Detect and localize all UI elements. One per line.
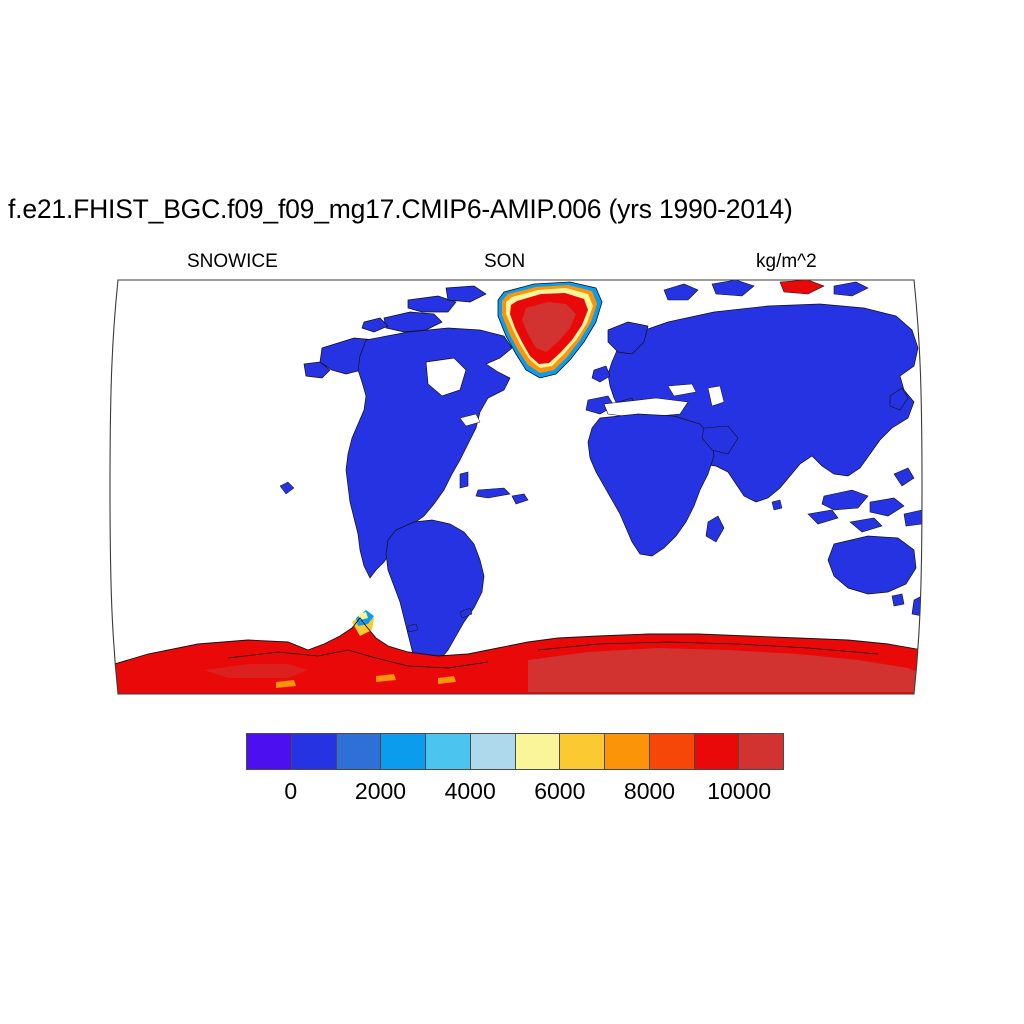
units-label: kg/m^2 (756, 251, 817, 273)
colorbar-tick-0: 0 (284, 777, 297, 805)
colorbar-cell-3 (381, 734, 426, 769)
variable-label: SNOWICE (187, 251, 278, 273)
colorbar-cell-5 (471, 734, 516, 769)
colorbar (246, 733, 784, 770)
colorbar-cell-8 (605, 734, 650, 769)
colorbar-tick-6000: 6000 (534, 777, 585, 805)
season-label: SON (484, 251, 525, 273)
colorbar-cell-1 (292, 734, 337, 769)
colorbar-cell-4 (426, 734, 471, 769)
colorbar-tick-10000: 10000 (707, 777, 771, 805)
map-svg (108, 278, 924, 696)
page-title: f.e21.FHIST_BGC.f09_f09_mg17.CMIP6-AMIP.… (8, 194, 1018, 224)
colorbar-tick-2000: 2000 (355, 777, 406, 805)
colorbar-cell-0 (247, 734, 292, 769)
colorbar-tick-labels: 0200040006000800010000 (246, 777, 784, 807)
colorbar-cell-2 (337, 734, 382, 769)
colorbar-cell-6 (516, 734, 561, 769)
colorbar-tick-8000: 8000 (624, 777, 675, 805)
colorbar-cell-10 (695, 734, 740, 769)
figure-canvas: f.e21.FHIST_BGC.f09_f09_mg17.CMIP6-AMIP.… (0, 0, 1024, 1024)
colorbar-cell-9 (650, 734, 695, 769)
colorbar-tick-4000: 4000 (445, 777, 496, 805)
world-map (108, 278, 924, 696)
colorbar-cell-11 (739, 734, 783, 769)
colorbar-cell-7 (560, 734, 605, 769)
